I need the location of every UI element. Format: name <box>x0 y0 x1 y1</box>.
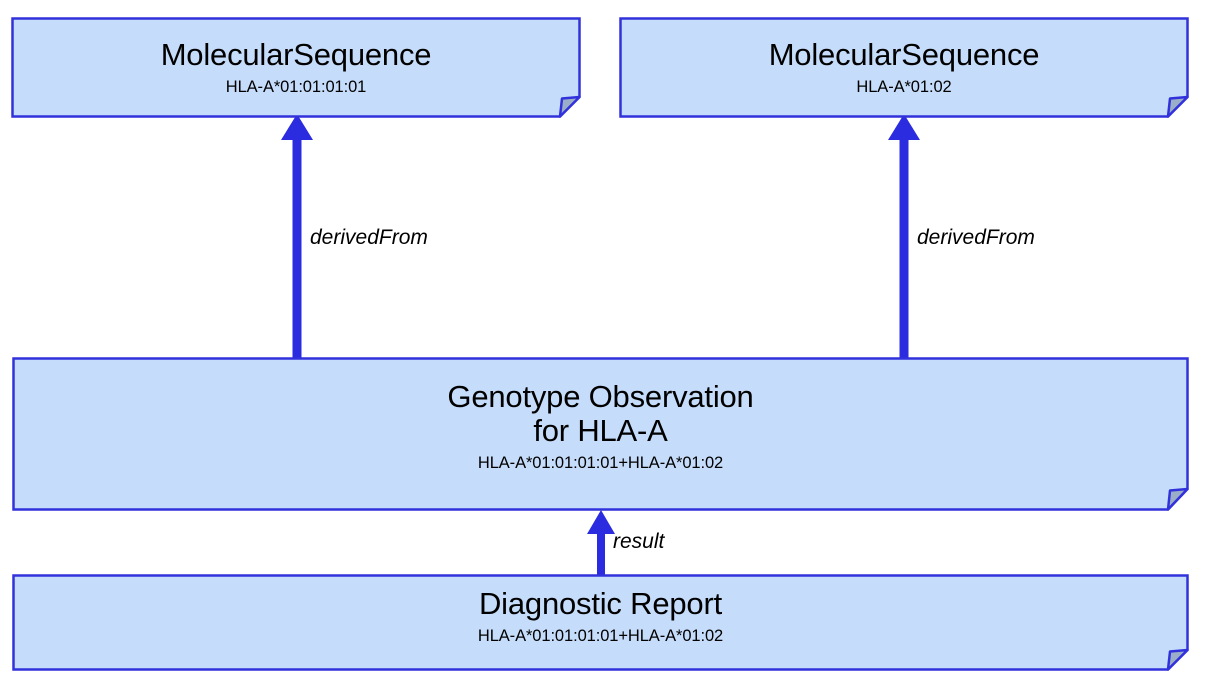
node-molecularsequence-left[interactable]: MolecularSequence HLA-A*01:01:01:01 <box>11 17 581 118</box>
edge-derivedfrom-right-label: derivedFrom <box>917 226 1035 250</box>
node-content: Genotype Observation for HLA-A HLA-A*01:… <box>12 380 1189 473</box>
node-content: MolecularSequence HLA-A*01:01:01:01 <box>11 38 581 96</box>
node-subtitle: HLA-A*01:01:01:01 <box>25 78 567 96</box>
node-subtitle: HLA-A*01:02 <box>633 78 1175 96</box>
node-diagnostic-report[interactable]: Diagnostic Report HLA-A*01:01:01:01+HLA-… <box>12 574 1189 671</box>
node-content: MolecularSequence HLA-A*01:02 <box>619 38 1189 96</box>
edge-result-label: result <box>613 530 664 554</box>
node-title: MolecularSequence <box>633 38 1175 73</box>
diagram-canvas: derivedFrom derivedFrom result Molecular… <box>0 0 1206 692</box>
node-subtitle: HLA-A*01:01:01:01+HLA-A*01:02 <box>26 454 1175 472</box>
node-title: Diagnostic Report <box>26 587 1175 622</box>
node-genotype-observation[interactable]: Genotype Observation for HLA-A HLA-A*01:… <box>12 357 1189 511</box>
node-molecularsequence-right[interactable]: MolecularSequence HLA-A*01:02 <box>619 17 1189 118</box>
node-title: Genotype Observation for HLA-A <box>26 380 1175 449</box>
node-content: Diagnostic Report HLA-A*01:01:01:01+HLA-… <box>12 587 1189 645</box>
node-subtitle: HLA-A*01:01:01:01+HLA-A*01:02 <box>26 627 1175 645</box>
edge-derivedfrom-left-label: derivedFrom <box>310 226 428 250</box>
node-title: MolecularSequence <box>25 38 567 73</box>
